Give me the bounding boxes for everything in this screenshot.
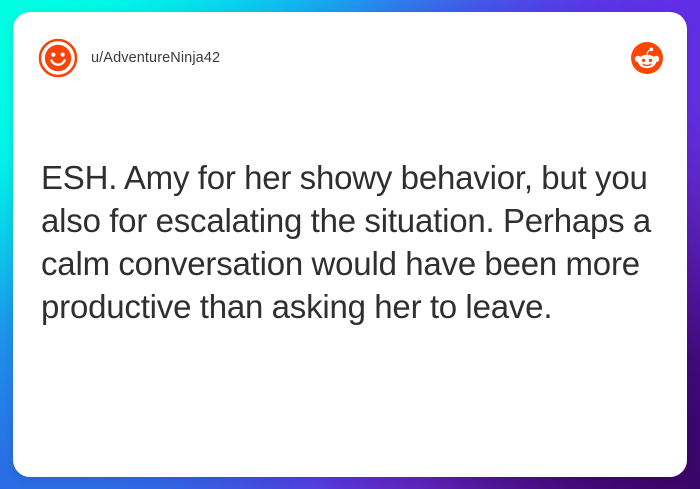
card-header: u/AdventureNinja42 <box>13 12 687 104</box>
card-body: ESH. Amy for her showy behavior, but you… <box>41 156 653 328</box>
reddit-snoo-icon[interactable] <box>631 42 663 74</box>
reddit-comment-card: u/AdventureNinja42 ESH. Amy for her show… <box>13 12 687 477</box>
username-label: u/AdventureNinja42 <box>91 50 220 66</box>
smiley-face-avatar-icon[interactable] <box>38 38 78 78</box>
comment-text: ESH. Amy for her showy behavior, but you… <box>41 156 653 328</box>
screenshot-canvas: u/AdventureNinja42 ESH. Amy for her show… <box>0 0 700 489</box>
